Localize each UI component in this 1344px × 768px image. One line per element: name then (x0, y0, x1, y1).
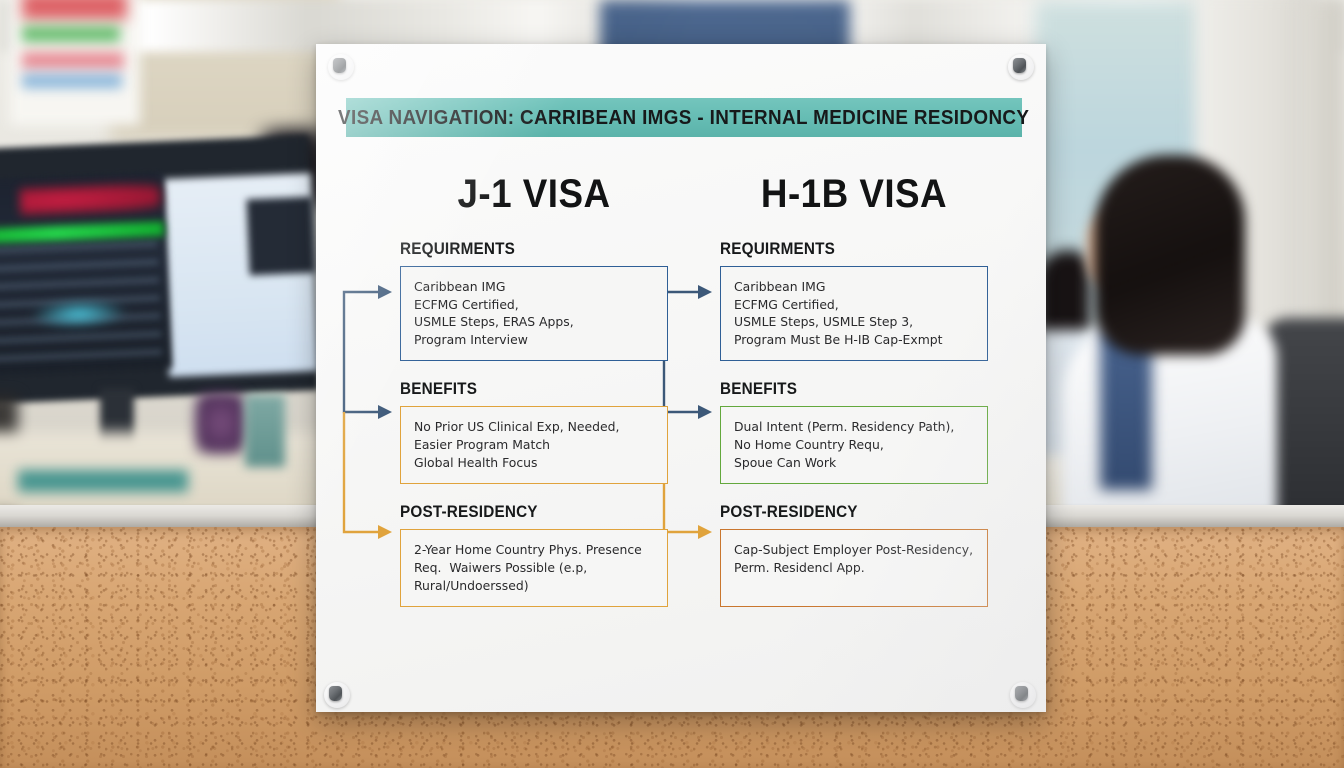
card-h1b-requirements: Caribbean IMG ECFMG Certified, USMLE Ste… (720, 266, 988, 361)
card-line: Dual Intent (Perm. Residency Path), (734, 418, 974, 436)
card-line: Program Must Be H-IB Cap-Exmpt (734, 331, 974, 349)
section-j1-benefits: BENEFITS No Prior US Clinical Exp, Neede… (384, 379, 684, 484)
card-line: No Prior US Clinical Exp, Needed, (414, 418, 654, 436)
column-h1b-visa: H-1B VISA REQUIRMENTS Caribbean IMG ECFM… (704, 172, 1004, 625)
background-poster-blue-band (22, 74, 122, 88)
card-line: USMLE Steps, USMLE Step 3, (734, 313, 974, 331)
card-line: Global Health Focus (414, 454, 654, 472)
monitor-inset-panel (246, 197, 315, 276)
card-line: Spoue Can Work (734, 454, 974, 472)
section-h1b-benefits: BENEFITS Dual Intent (Perm. Residency Pa… (704, 379, 1004, 484)
card-line: USMLE Steps, ERAS Apps, (414, 313, 654, 331)
card-line: Req. Waiwers Possible (e.p, (414, 559, 654, 577)
background-poster-red-band (22, 0, 127, 20)
clinician-hair (1095, 155, 1245, 355)
pushpin-icon (328, 54, 354, 80)
card-j1-post-residency: 2-Year Home Country Phys. Presence Req. … (400, 529, 668, 607)
card-line: Caribbean IMG (734, 278, 974, 296)
card-h1b-post-residency: Cap-Subject Employer Post-Residency, Per… (720, 529, 988, 607)
card-h1b-benefits: Dual Intent (Perm. Residency Path), No H… (720, 406, 988, 484)
desk-purple-object (195, 392, 247, 454)
page-title: VISA NAVIGATION: CARRIBEAN IMGS - INTERN… (338, 106, 1029, 130)
card-line: Easier Program Match (414, 436, 654, 454)
card-line: No Home Country Requ, (734, 436, 974, 454)
desk-green-binder (245, 395, 285, 467)
card-line: Rural/Undoerssed) (414, 577, 654, 595)
section-h1b-post-residency: POST-RESIDENCY Cap-Subject Employer Post… (704, 502, 1004, 607)
section-h1b-requirements: REQUIRMENTS Caribbean IMG ECFMG Certifie… (704, 239, 1004, 361)
section-label-post-residency: POST-RESIDENCY (400, 502, 656, 522)
card-line: Cap-Subject Employer Post-Residency, (734, 541, 974, 559)
monitor-cyan-highlight (29, 298, 128, 330)
section-label-benefits: BENEFITS (720, 379, 976, 399)
section-label-benefits: BENEFITS (400, 379, 656, 399)
column-j1-visa: J-1 VISA REQUIRMENTS Caribbean IMG ECFMG… (384, 172, 684, 625)
card-line: ECFMG Certified, (414, 296, 654, 314)
poster-header-bar: VISA NAVIGATION: CARRIBEAN IMGS - INTERN… (346, 98, 1022, 137)
card-line: Program Interview (414, 331, 654, 349)
card-line: 2-Year Home Country Phys. Presence (414, 541, 654, 559)
pushpin-icon (324, 682, 350, 708)
section-label-requirements: REQUIRMENTS (720, 239, 976, 259)
section-j1-requirements: REQUIRMENTS Caribbean IMG ECFMG Certifie… (384, 239, 684, 361)
card-line: Perm. Residencl App. (734, 559, 974, 577)
pushpin-icon (1008, 54, 1034, 80)
visa-type-title-h1b: H-1B VISA (716, 172, 992, 217)
background-poster-green-band (22, 26, 120, 42)
desk-teal-object (18, 470, 188, 492)
section-j1-post-residency: POST-RESIDENCY 2-Year Home Country Phys.… (384, 502, 684, 607)
section-label-post-residency: POST-RESIDENCY (720, 502, 976, 522)
section-label-requirements: REQUIRMENTS (400, 239, 656, 259)
card-j1-benefits: No Prior US Clinical Exp, Needed, Easier… (400, 406, 668, 484)
card-line: Caribbean IMG (414, 278, 654, 296)
visa-type-title-j1: J-1 VISA (396, 172, 672, 217)
pushpin-icon (1010, 682, 1036, 708)
visa-comparison-poster: VISA NAVIGATION: CARRIBEAN IMGS - INTERN… (316, 44, 1046, 712)
background-poster-pink-band (22, 52, 124, 69)
card-line: ECFMG Certified, (734, 296, 974, 314)
card-j1-requirements: Caribbean IMG ECFMG Certified, USMLE Ste… (400, 266, 668, 361)
screenshot-scene: VISA NAVIGATION: CARRIBEAN IMGS - INTERN… (0, 0, 1344, 768)
